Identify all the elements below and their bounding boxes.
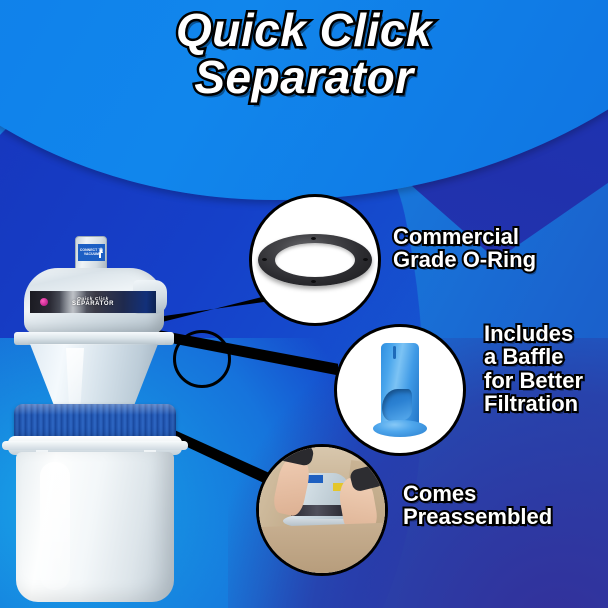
baffle-tube-icon [337,327,463,453]
feature-caption-o-ring: Commercial Grade O-Ring [393,225,536,272]
feature-3-line-1: Comes [403,482,552,505]
title-line-1: Quick Click [0,8,608,53]
o-ring-bolt-hole-right [363,258,368,261]
title-line-2: Separator [0,55,608,100]
feature-1-line-1: Commercial [393,225,536,248]
box-unboxing-photo-icon [259,447,385,573]
product-brand-label: Quick Click SEPARATOR [30,291,156,313]
o-ring-bolt-hole-top [311,237,316,240]
separator-flange [14,332,174,345]
brand-dot-icon [40,298,48,306]
connect-to-vacuum-label: CONNECT TO VACUUM [78,244,105,261]
o-ring-gasket-icon [252,197,378,323]
o-ring-body [258,234,372,286]
feature-caption-preassembled: Comes Preassembled [403,482,552,529]
brand-label-main: SEPARATOR [72,301,114,307]
bucket-highlight [40,462,70,590]
baffle-base-flange [373,420,427,437]
up-arrow-stem-icon [99,253,101,258]
callout-bubble-o-ring [249,194,381,326]
feature-2-line-2: a Baffle [484,345,583,368]
baffle-body [377,343,423,437]
product-feature-graphic: Quick Click Separator CONNECT TO VACUUM … [0,0,608,608]
feature-2-line-3: for Better [484,369,583,392]
brand-label-text: Quick Click SEPARATOR [72,296,114,308]
flange-clip-right [156,336,165,345]
baffle-scoop-opening [382,389,412,421]
feature-2-line-4: Filtration [484,392,583,415]
feature-2-line-1: Includes [484,322,583,345]
feature-caption-baffle: Includes a Baffle for Better Filtration [484,322,583,415]
baffle-slot [393,346,396,359]
o-ring-bolt-hole-bottom [311,280,316,283]
flange-clip-left [19,336,28,345]
callout-bubble-baffle [334,324,466,456]
feature-1-line-2: Grade O-Ring [393,248,536,271]
callout-bubble-preassembled [256,444,388,576]
o-ring-bolt-hole-left [262,258,267,261]
page-title: Quick Click Separator [0,8,608,100]
feature-3-line-2: Preassembled [403,505,552,528]
product-image-separator: CONNECT TO VACUUM Quick Click SEPARATOR [6,236,202,608]
bucket-handle-bar [2,441,188,450]
